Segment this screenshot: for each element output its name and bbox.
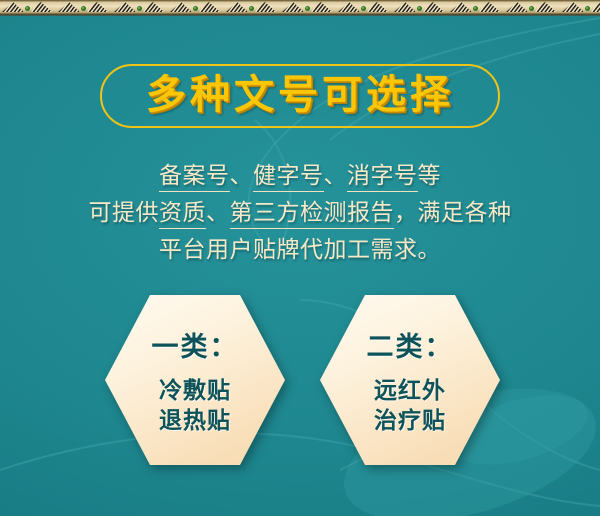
category-item: 冷敷贴	[159, 376, 231, 406]
plain-text: 可提供	[89, 200, 160, 226]
description-line: 备案号、健字号、消字号等	[0, 158, 600, 195]
description-line: 平台用户贴牌代加工需求。	[0, 232, 600, 269]
plain-text: 、	[206, 200, 230, 226]
plain-text: ，满足各种	[394, 200, 512, 226]
highlighted-term: 备案号	[159, 163, 230, 192]
category-hexagon-two[interactable]: 二类： 远红外 治疗贴	[320, 295, 500, 465]
description-paragraph: 备案号、健字号、消字号等 可提供资质、第三方检测报告，满足各种 平台用户贴牌代加…	[0, 158, 600, 269]
plain-text: 、	[230, 163, 254, 189]
plain-text: 平台用户贴牌代加工需求。	[159, 237, 441, 263]
highlighted-term: 消字号	[347, 163, 418, 192]
highlighted-term: 第三方检测报告	[230, 200, 395, 229]
category-item: 远红外	[374, 376, 446, 406]
highlighted-term: 健字号	[253, 163, 324, 192]
highlighted-term: 资质	[159, 200, 206, 229]
plain-text: 等	[418, 163, 442, 189]
poster-canvas: 多种文号可选择 备案号、健字号、消字号等 可提供资质、第三方检测报告，满足各种 …	[0, 0, 600, 516]
hexagon-content: 二类： 远红外 治疗贴	[320, 295, 500, 465]
category-hexagon-one[interactable]: 一类： 冷敷贴 退热贴	[105, 295, 285, 465]
ornamental-border-strip	[0, 0, 600, 16]
category-item: 治疗贴	[374, 406, 446, 436]
plain-text: 、	[324, 163, 348, 189]
page-title: 多种文号可选择	[0, 62, 600, 128]
category-heading: 二类：	[367, 325, 454, 364]
category-item: 退热贴	[159, 406, 231, 436]
hexagon-content: 一类： 冷敷贴 退热贴	[105, 295, 285, 465]
category-heading: 一类：	[152, 325, 239, 364]
description-line: 可提供资质、第三方检测报告，满足各种	[0, 195, 600, 232]
